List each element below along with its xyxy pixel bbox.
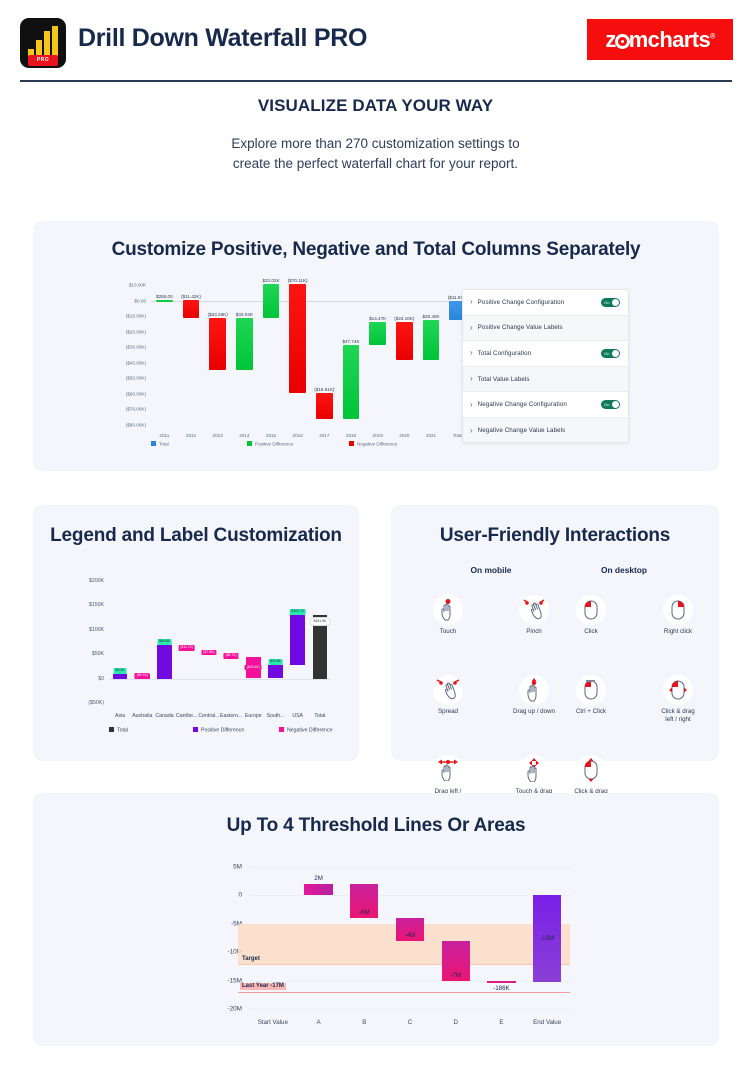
drag-left-right-icon — [433, 755, 463, 785]
bar-value-chip: ($7.5K) — [201, 650, 216, 656]
chevron-right-icon: › — [470, 375, 473, 383]
toggle-switch[interactable]: On — [601, 298, 620, 307]
panel-columns-title: Customize Positive, Negative and Total C… — [33, 221, 719, 261]
gridline — [250, 1009, 570, 1010]
threshold-line — [238, 992, 570, 993]
y-axis-tick-label: $100K — [89, 627, 104, 633]
y-axis-tick-label: $10.00K — [129, 283, 146, 288]
desktop-column-heading: On desktop — [601, 565, 647, 575]
bar-value-label: $22.02K — [262, 278, 279, 283]
x-axis-tick-label: 2015 — [266, 433, 276, 438]
y-axis-tick-label: 0 — [238, 892, 242, 899]
chevron-right-icon: › — [470, 349, 473, 357]
chevron-right-icon: › — [470, 427, 473, 435]
legend-swatch — [247, 441, 252, 446]
toggle-knob — [612, 350, 619, 357]
legend-swatch — [193, 727, 198, 732]
legend-swatch — [109, 727, 114, 732]
x-axis-tick-label: 2013 — [213, 433, 223, 438]
x-axis-tick-label: South... — [267, 713, 285, 719]
threshold-label: Target — [240, 956, 262, 963]
y-axis-tick-label: -20M — [227, 1006, 242, 1013]
x-axis-tick-label: Start Value — [258, 1019, 288, 1026]
y-axis-tick-label: ($50K) — [88, 700, 104, 706]
bar-value-label: ($33.26K) — [208, 312, 228, 317]
chart-columns-plot: $10.00K$0.00($10.00K)($20.00K)($30.00K)(… — [151, 285, 471, 425]
waterfall-bar[interactable] — [423, 320, 440, 360]
zoomcharts-logo: zmcharts® — [587, 19, 733, 60]
gridline — [250, 867, 570, 868]
waterfall-bar[interactable] — [263, 284, 280, 318]
y-axis-tick-label: ($80.00K) — [126, 423, 146, 428]
gridline — [250, 895, 570, 896]
x-axis-tick-label: End Value — [533, 1019, 561, 1026]
bar-value-label: 2M — [314, 875, 323, 882]
toggle-switch[interactable]: On — [601, 400, 620, 409]
mouse-right-click-icon — [663, 595, 693, 625]
legend-swatch — [349, 441, 354, 446]
legend-item-label: Total — [159, 442, 169, 447]
panel-interactions-title: User-Friendly Interactions — [391, 505, 719, 547]
chevron-right-icon: › — [470, 324, 473, 332]
bar-value-label: -4M — [405, 932, 416, 939]
threshold-line — [238, 964, 570, 965]
gesture-item: Ctrl + Click — [555, 675, 627, 716]
gesture-item: Click & dragleft / right — [642, 675, 714, 724]
waterfall-bar[interactable] — [236, 318, 253, 369]
x-axis-tick-label: USA — [292, 713, 303, 719]
x-axis-tick-label: A — [316, 1019, 320, 1026]
header-divider — [20, 80, 732, 82]
bar-value-label: -6M — [359, 909, 370, 916]
bar-value-label: ($24.10K) — [394, 316, 414, 321]
x-axis-tick-label: 2012 — [186, 433, 196, 438]
y-axis-tick-label: $150K — [89, 602, 104, 608]
mouse-drag-lr-icon — [663, 675, 693, 705]
intro-line-2: create the perfect waterfall chart for y… — [233, 156, 518, 171]
chart-threshold-plot: 5M0-5M-10M-15M-20MTargetLast Year -17MSt… — [250, 867, 570, 1009]
x-axis-tick-label: 2014 — [239, 433, 249, 438]
bar-value-label: -15M — [540, 935, 554, 942]
touch-icon — [433, 595, 463, 625]
toggle-knob — [612, 299, 619, 306]
waterfall-bar[interactable] — [487, 981, 515, 984]
logo-ring-icon — [615, 34, 630, 49]
settings-row[interactable]: › Total Value Labels — [463, 367, 628, 393]
waterfall-bar[interactable] — [316, 393, 333, 419]
waterfall-bar[interactable] — [290, 615, 305, 665]
settings-row-label: Positive Change Configuration — [478, 299, 601, 306]
bar-value-chip: $68.6K — [157, 639, 172, 645]
panel-interactions: User-Friendly Interactions On mobile On … — [391, 505, 719, 761]
y-axis-tick-label: $200K — [89, 578, 104, 584]
legend-item-label: Positive Difference — [201, 728, 244, 734]
gesture-label: Click — [555, 628, 627, 636]
waterfall-bar[interactable] — [156, 300, 173, 302]
settings-row[interactable]: › Negative Change Value Labels — [463, 418, 628, 443]
x-axis-tick-label: Asia — [115, 713, 125, 719]
settings-row-label: Total Value Labels — [478, 376, 620, 383]
touch-drag-icon — [519, 755, 549, 785]
panel-legend-title: Legend and Label Customization — [33, 505, 359, 547]
bar-value-label: -186K — [493, 985, 510, 992]
gesture-item: Right click — [642, 595, 714, 636]
chart-legend-legend: TotalPositive DifferenceNegative Differe… — [109, 727, 339, 737]
toggle-knob — [612, 401, 619, 408]
waterfall-bar[interactable] — [369, 322, 386, 345]
intro-line-1: Explore more than 270 customization sett… — [231, 136, 519, 151]
intro-paragraph: Explore more than 270 customization sett… — [0, 134, 751, 173]
toggle-label: On — [604, 402, 610, 407]
pro-badge-label: PRO — [28, 55, 58, 66]
chevron-right-icon: › — [470, 298, 473, 306]
x-axis-tick-label: B — [362, 1019, 366, 1026]
waterfall-bar[interactable] — [304, 884, 332, 895]
legend-item[interactable]: Positive Difference — [247, 441, 293, 447]
x-axis-tick-label: 2016 — [293, 433, 303, 438]
x-axis-tick-label: Europe — [245, 713, 262, 719]
gridline — [250, 981, 570, 982]
page-title: Drill Down Waterfall PRO — [78, 24, 367, 53]
mouse-ctrl-click-icon — [576, 675, 606, 705]
legend-item[interactable]: Positive Difference — [193, 727, 244, 734]
x-axis-tick-label: D — [453, 1019, 457, 1026]
y-axis-tick-label: ($20.00K) — [126, 329, 146, 334]
waterfall-bar[interactable] — [289, 284, 306, 393]
threshold-label: Last Year -17M — [240, 983, 286, 990]
bar-value-label: ($16.61K) — [314, 387, 334, 392]
mouse-click-icon — [576, 595, 606, 625]
settings-row-label: Negative Change Configuration — [478, 401, 601, 408]
gesture-item: Click — [555, 595, 627, 636]
bar-value-label: ($70.11K) — [288, 278, 308, 283]
legend-swatch — [279, 727, 284, 732]
legend-item[interactable]: Total — [109, 727, 128, 734]
legend-item[interactable]: Negative Difference — [279, 727, 332, 734]
bar-value-chip: ($9.1K) — [135, 673, 150, 679]
gesture-label: Spread — [412, 708, 484, 716]
bar-value-label: $255.00 — [156, 294, 173, 299]
waterfall-bar[interactable] — [343, 345, 360, 419]
legend-item[interactable]: Total — [151, 441, 169, 447]
bar-value-label: $25.40K — [422, 314, 439, 319]
settings-row[interactable]: › Total Configuration On — [463, 341, 628, 367]
y-axis-tick-label: $0.00 — [135, 298, 147, 303]
waterfall-bar[interactable] — [268, 665, 283, 678]
gesture-label: Ctrl + Click — [555, 708, 627, 716]
legend-item-label: Total — [117, 728, 128, 734]
settings-accordion-panel[interactable]: › Positive Change Configuration On › Pos… — [462, 289, 629, 443]
bar-value-label: $33.04K — [236, 312, 253, 317]
x-axis-tick-label: 2019 — [373, 433, 383, 438]
y-axis-tick-label: ($50.00K) — [126, 376, 146, 381]
x-axis-tick-label: Australia — [132, 713, 152, 719]
mouse-drag-ud-icon — [576, 755, 606, 785]
bar-value-chip: ($43.1K) — [245, 665, 262, 671]
bar-value-label: ($11.42K) — [181, 294, 201, 299]
x-axis-tick-label: Canada — [155, 713, 173, 719]
waterfall-bar[interactable] — [157, 645, 172, 678]
settings-row[interactable]: › Positive Change Configuration On — [463, 290, 628, 316]
waterfall-bar[interactable] — [396, 322, 413, 359]
page-header: PRO Drill Down Waterfall PRO zmcharts® — [0, 0, 751, 88]
gesture-item: Touch — [412, 595, 484, 636]
chart-legend-plot: $200K$150K$100K$50K$0($50K)$9.2KAsia($9.… — [109, 581, 331, 703]
chevron-right-icon: › — [470, 401, 473, 409]
x-axis-tick-label: 2011 — [159, 433, 169, 438]
bar-value-chip: ($5.7K) — [224, 653, 239, 659]
settings-row[interactable]: › Negative Change Configuration On — [463, 392, 628, 418]
x-axis-tick-label: Eastern... — [220, 713, 242, 719]
y-axis-tick-label: ($40.00K) — [126, 360, 146, 365]
toggle-label: On — [604, 300, 610, 305]
y-axis-tick-label: ($10.00K) — [126, 314, 146, 319]
x-axis-tick-label: Total — [314, 713, 325, 719]
chart-columns-legend: TotalPositive DifferenceNegative Differe… — [151, 441, 471, 451]
bar-value-chip: $161.5K — [310, 617, 331, 626]
legend-item-label: Negative Difference — [287, 728, 332, 734]
bar-value-chip: $9.2K — [114, 668, 127, 674]
mobile-column-heading: On mobile — [471, 565, 512, 575]
settings-row-label: Total Configuration — [478, 350, 601, 357]
spread-icon — [433, 675, 463, 705]
x-axis-tick-label: 2017 — [319, 433, 329, 438]
x-axis-tick-label: E — [499, 1019, 503, 1026]
app-logo-icon: PRO — [20, 18, 66, 68]
panel-threshold: Up To 4 Threshold Lines Or Areas 5M0-5M-… — [33, 793, 719, 1046]
y-axis-tick-label: ($60.00K) — [126, 391, 146, 396]
y-axis-tick-label: $50K — [92, 651, 104, 657]
x-axis-tick-label: 2021 — [426, 433, 436, 438]
chart-threshold-waterfall: 5M0-5M-10M-15M-20MTargetLast Year -17MSt… — [33, 853, 719, 1043]
legend-item[interactable]: Negative Difference — [349, 441, 397, 447]
bar-value-label: $47.74K — [342, 339, 359, 344]
intro-heading: VISUALIZE DATA YOUR WAY — [0, 96, 751, 116]
y-axis-tick-label: ($30.00K) — [126, 345, 146, 350]
x-axis-tick-label: 2018 — [346, 433, 356, 438]
settings-row[interactable]: › Positive Change Value Labels — [463, 316, 628, 342]
x-axis-tick-label: Carribe... — [176, 713, 197, 719]
waterfall-bar[interactable] — [113, 674, 128, 678]
chart-legend-waterfall: $200K$150K$100K$50K$0($50K)$9.2KAsia($9.… — [33, 567, 359, 757]
bar-value-chip: ($11.7K) — [178, 645, 195, 651]
bar-value-chip: $26.6K — [268, 659, 283, 665]
bar-value-label: -7M — [450, 972, 461, 979]
legend-item-label: Positive Difference — [255, 442, 293, 447]
toggle-label: On — [604, 351, 610, 356]
settings-row-label: Negative Change Value Labels — [478, 427, 620, 434]
settings-row-label: Positive Change Value Labels — [478, 324, 620, 331]
intro-block: VISUALIZE DATA YOUR WAY Explore more tha… — [0, 96, 751, 173]
gesture-label: Click & dragleft / right — [642, 708, 714, 724]
legend-swatch — [151, 441, 156, 446]
gesture-item: Spread — [412, 675, 484, 716]
toggle-switch[interactable]: On — [601, 349, 620, 358]
y-axis-tick-label: ($70.00K) — [126, 407, 146, 412]
gesture-label: Touch — [412, 628, 484, 636]
y-axis-tick-label: $0 — [98, 676, 104, 682]
panel-threshold-title: Up To 4 Threshold Lines Or Areas — [33, 793, 719, 837]
x-axis-tick-label: 2020 — [399, 433, 409, 438]
interactions-grid: On mobile On desktop TouchPinchSpreadDra… — [391, 565, 719, 760]
bar-value-label: $14.47K — [369, 316, 386, 321]
waterfall-bar[interactable] — [183, 300, 200, 318]
x-axis-tick-label: Central... — [198, 713, 219, 719]
bar-value-chip: $102.7K — [289, 609, 306, 615]
drag-up-down-icon — [519, 675, 549, 705]
pinch-icon — [519, 595, 549, 625]
x-axis-tick-label: C — [408, 1019, 412, 1026]
y-axis-tick-label: 5M — [233, 864, 242, 871]
waterfall-bar[interactable] — [209, 318, 226, 370]
legend-item-label: Negative Difference — [357, 442, 397, 447]
gesture-label: Right click — [642, 628, 714, 636]
panel-legend-label: Legend and Label Customization $200K$150… — [33, 505, 359, 761]
